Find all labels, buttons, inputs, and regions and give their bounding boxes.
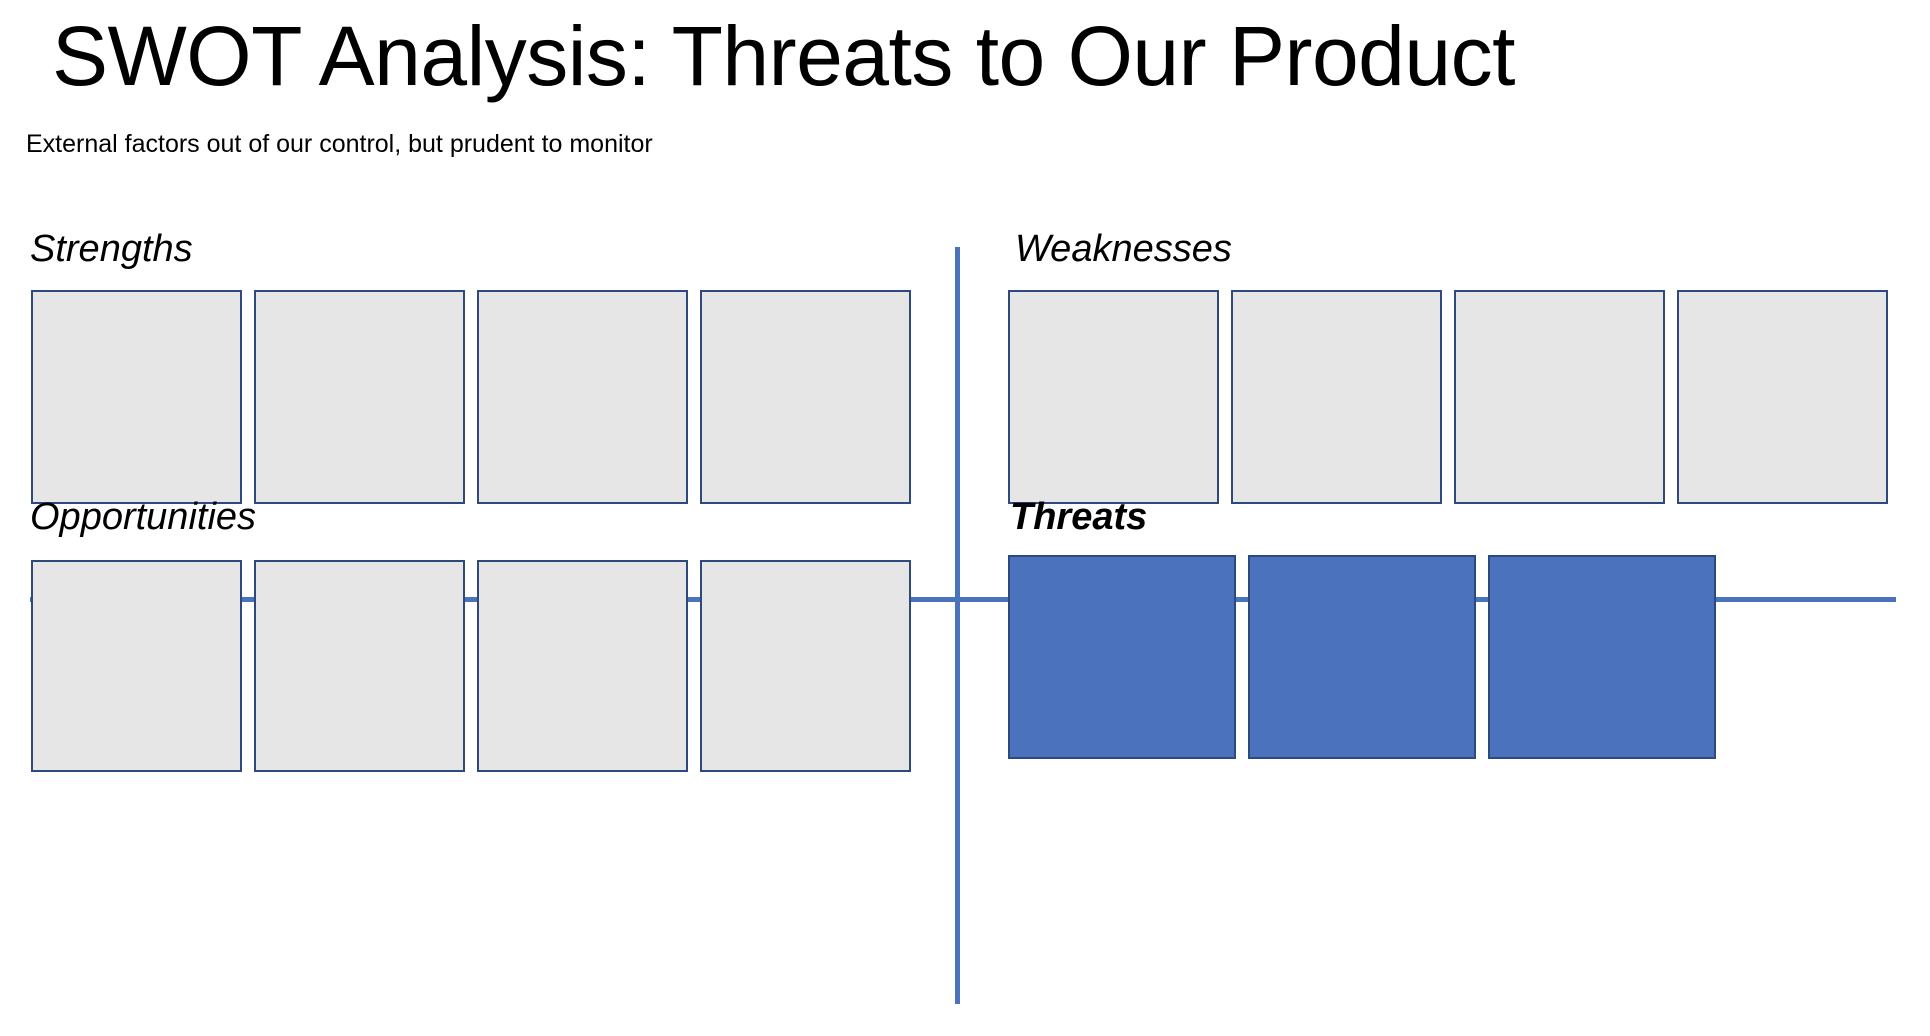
item-box-opportunities-3[interactable] (477, 560, 688, 772)
item-box-threats-2[interactable] (1248, 555, 1476, 759)
item-box-opportunities-1[interactable] (31, 560, 242, 772)
item-box-weaknesses-1[interactable] (1008, 290, 1219, 504)
item-box-weaknesses-3[interactable] (1454, 290, 1665, 504)
item-row-strengths (31, 290, 911, 504)
quadrant-opportunities: Opportunities (0, 496, 950, 916)
item-row-threats (1008, 555, 1716, 759)
quadrant-label-weaknesses: Weaknesses (1015, 228, 1232, 271)
vertical-divider (955, 247, 960, 1004)
quadrant-label-threats: Threats (1010, 496, 1147, 539)
item-box-strengths-1[interactable] (31, 290, 242, 504)
item-box-opportunities-4[interactable] (700, 560, 911, 772)
page-title: SWOT Analysis: Threats to Our Product (52, 12, 1515, 100)
item-row-opportunities (31, 560, 911, 772)
item-box-threats-3[interactable] (1488, 555, 1716, 759)
item-box-threats-1[interactable] (1008, 555, 1236, 759)
swot-slide: SWOT Analysis: Threats to Our Product Ex… (0, 0, 1930, 1036)
page-subtitle: External factors out of our control, but… (26, 130, 653, 159)
item-box-strengths-2[interactable] (254, 290, 465, 504)
quadrant-label-strengths: Strengths (30, 228, 193, 271)
item-box-opportunities-2[interactable] (254, 560, 465, 772)
item-box-weaknesses-4[interactable] (1677, 290, 1888, 504)
item-box-strengths-4[interactable] (700, 290, 911, 504)
item-row-weaknesses (1008, 290, 1888, 504)
quadrant-label-opportunities: Opportunities (30, 496, 256, 539)
quadrant-threats: Threats (980, 496, 1930, 916)
item-box-weaknesses-2[interactable] (1231, 290, 1442, 504)
item-box-strengths-3[interactable] (477, 290, 688, 504)
